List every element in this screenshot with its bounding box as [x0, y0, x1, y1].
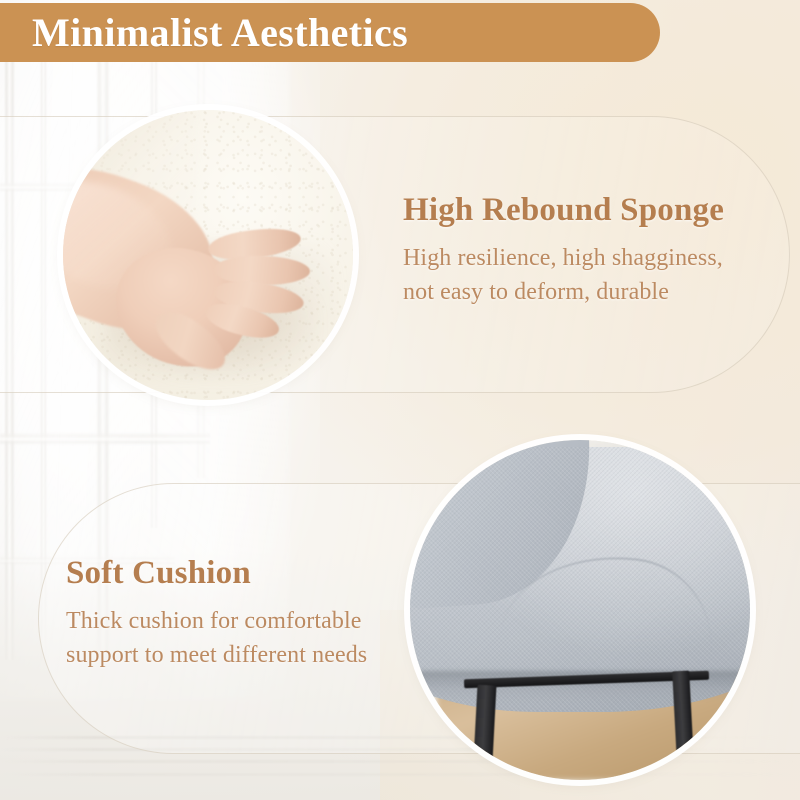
- header-banner: Minimalist Aesthetics: [0, 3, 660, 62]
- feature-description: Thick cushion for comfortable support to…: [66, 604, 367, 672]
- banner-title: Minimalist Aesthetics: [32, 13, 408, 53]
- feature-text-soft-cushion: Soft Cushion Thick cushion for comfortab…: [66, 555, 367, 672]
- feature-title: Soft Cushion: [66, 555, 367, 593]
- feature-description-line: not easy to deform, durable: [403, 275, 724, 309]
- feature-text-high-rebound-sponge: High Rebound Sponge High resilience, hig…: [403, 192, 724, 309]
- feature-description: High resilience, high shagginess, not ea…: [403, 241, 724, 309]
- infographic-page: Minimalist Aesthetics High: [0, 0, 800, 800]
- feature-description-line: Thick cushion for comfortable: [66, 604, 367, 638]
- feature-description-line: High resilience, high shagginess,: [403, 241, 724, 275]
- photo-hand-pressing-foam-sponge: [63, 110, 353, 400]
- feature-title: High Rebound Sponge: [403, 192, 724, 230]
- feature-description-line: support to meet different needs: [66, 638, 367, 672]
- photo-gray-chair-seat: [410, 440, 750, 780]
